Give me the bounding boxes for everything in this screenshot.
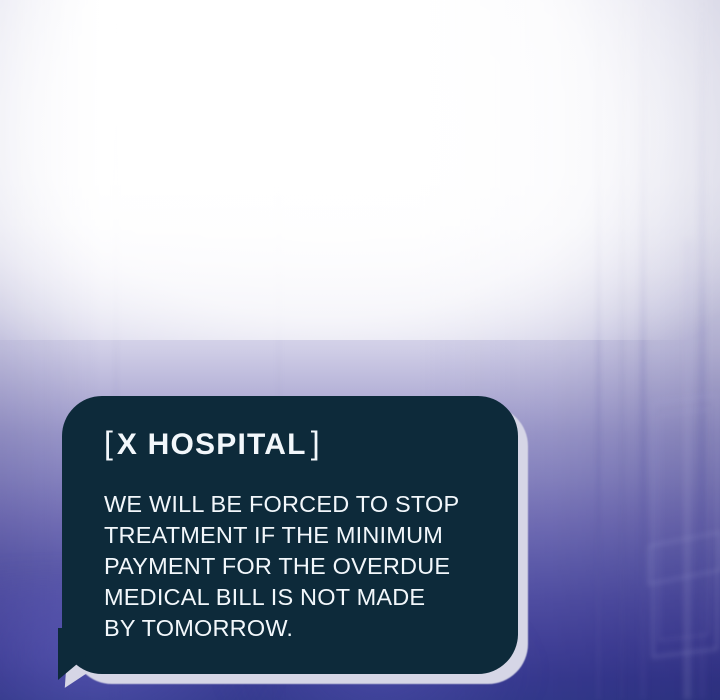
message-line: TREATMENT IF THE MINIMUM [104, 520, 496, 551]
message-line: WE WILL BE FORCED TO STOP [104, 489, 496, 520]
message-line: MEDICAL BILL IS NOT MADE [104, 582, 496, 613]
speech-bubble: [X HOSPITAL] WE WILL BE FORCED TO STOP T… [62, 396, 518, 674]
message-line: BY TOMORROW. [104, 613, 496, 644]
speech-bubble-title: [X HOSPITAL] [104, 426, 496, 461]
speech-bubble-message: WE WILL BE FORCED TO STOP TREATMENT IF T… [104, 489, 496, 644]
door-panel-inner-molding [659, 409, 709, 641]
title-close-bracket: ] [311, 425, 320, 461]
speech-bubble-content: [X HOSPITAL] WE WILL BE FORCED TO STOP T… [104, 426, 496, 644]
message-line: PAYMENT FOR THE OVERDUE [104, 551, 496, 582]
title-open-bracket: [ [104, 425, 113, 461]
comic-panel: [X HOSPITAL] WE WILL BE FORCED TO STOP T… [0, 0, 720, 700]
title-text: X HOSPITAL [113, 428, 311, 461]
